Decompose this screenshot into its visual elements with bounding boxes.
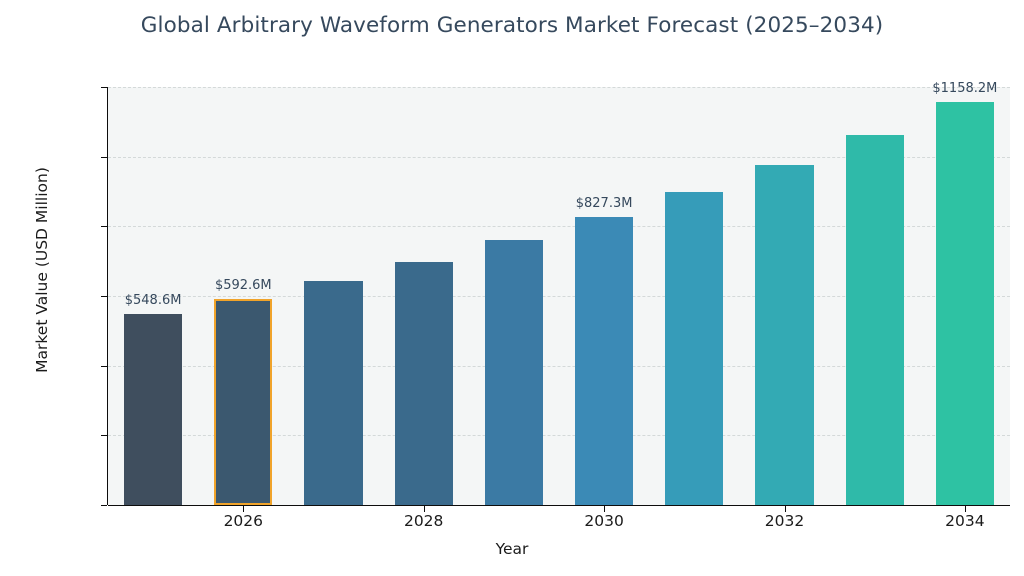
- chart-title: Global Arbitrary Waveform Generators Mar…: [0, 13, 1024, 38]
- bar-2032[interactable]: [755, 165, 813, 505]
- x-tick-label: 2028: [379, 512, 469, 530]
- y-tick-mark: [101, 366, 107, 367]
- bar-value-label-2026: $592.6M: [173, 278, 313, 293]
- bar-2029[interactable]: [485, 240, 543, 505]
- y-tick-mark: [101, 435, 107, 436]
- x-tick-label: 2032: [740, 512, 830, 530]
- bar-2033[interactable]: [846, 135, 904, 505]
- x-tick-label: 2034: [920, 512, 1010, 530]
- bar-2026[interactable]: [214, 299, 272, 505]
- bar-2025[interactable]: [124, 314, 182, 505]
- bar-2034[interactable]: [936, 102, 994, 505]
- bar-2030[interactable]: [575, 217, 633, 505]
- plot-area: [108, 87, 1010, 506]
- y-tick-mark: [101, 505, 107, 506]
- x-tick-label: 2030: [559, 512, 649, 530]
- y-tick-mark: [101, 157, 107, 158]
- bar-value-label-2025: $548.6M: [83, 293, 223, 308]
- x-axis-title: Year: [0, 540, 1024, 558]
- bar-value-label-2030: $827.3M: [534, 196, 674, 211]
- bar-2027[interactable]: [304, 281, 362, 505]
- y-tick-mark: [101, 87, 107, 88]
- y-axis-title: Market Value (USD Million): [33, 60, 51, 480]
- bar-2028[interactable]: [395, 262, 453, 505]
- gridline: [108, 87, 1010, 88]
- bar-2031[interactable]: [665, 192, 723, 505]
- bar-value-label-2034: $1158.2M: [895, 81, 1024, 96]
- y-tick-mark: [101, 226, 107, 227]
- chart-figure: Global Arbitrary Waveform Generators Mar…: [0, 0, 1024, 576]
- x-tick-label: 2026: [198, 512, 288, 530]
